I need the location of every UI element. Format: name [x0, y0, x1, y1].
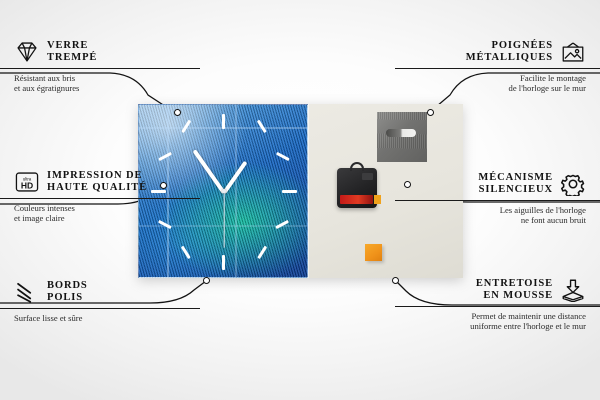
- hour-tick-2: [276, 152, 290, 161]
- divider: [395, 200, 600, 201]
- divider: [0, 68, 200, 69]
- feature-verre-trempe: VERRE TREMPÉ Résistant aux bris et aux é…: [0, 40, 210, 93]
- hour-tick-10: [158, 152, 172, 161]
- feature-header: BORDS POLIS: [0, 280, 210, 304]
- gear-icon: [560, 172, 586, 196]
- hour-tick-1: [257, 120, 267, 133]
- feature-title: BORDS POLIS: [47, 280, 88, 304]
- feature-subtitle: Couleurs intenses et image claire: [0, 203, 210, 224]
- mechanism-hanger-loop: [350, 162, 364, 171]
- picture-frame-hanger-icon: [560, 40, 586, 64]
- hour-tick-5: [257, 246, 267, 259]
- feature-title: MÉCANISME SILENCIEUX: [478, 172, 553, 196]
- marker-dot-poignees: [427, 109, 434, 116]
- feature-mecanisme-silencieux: MÉCANISME SILENCIEUX Les aiguilles de l'…: [385, 172, 600, 225]
- clock-mechanism-box: [337, 168, 377, 208]
- marker-dot-verre-trempe: [174, 109, 181, 116]
- feature-impression-haute-qualite: ultra HD IMPRESSION DE HAUTE QUALITÉ Cou…: [0, 170, 210, 223]
- infographic-stage: VERRE TREMPÉ Résistant aux bris et aux é…: [0, 0, 600, 400]
- divider: [395, 68, 600, 69]
- feature-header: MÉCANISME SILENCIEUX: [385, 172, 600, 196]
- hour-tick-11: [181, 120, 191, 133]
- hanger-slot: [386, 129, 416, 137]
- feature-subtitle: Permet de maintenir une distance uniform…: [385, 311, 600, 332]
- feature-header: VERRE TREMPÉ: [0, 40, 210, 64]
- feature-header: POIGNÉES MÉTALLIQUES: [385, 40, 600, 64]
- feature-subtitle: Facilite le montage de l'horloge sur le …: [385, 73, 600, 94]
- feature-subtitle: Résistant aux bris et aux égratignures: [0, 73, 210, 94]
- battery-positive-terminal: [374, 195, 381, 204]
- foam-spacer-pad: [365, 244, 382, 261]
- hour-hand: [222, 161, 247, 194]
- metal-hanger-plate: [377, 112, 427, 162]
- hour-tick-6: [222, 255, 225, 270]
- hour-tick-3: [282, 190, 297, 193]
- hour-tick-12: [222, 114, 225, 129]
- second-hand: [223, 193, 224, 248]
- feature-header: ultra HD IMPRESSION DE HAUTE QUALITÉ: [0, 170, 210, 194]
- diamond-icon: [14, 40, 40, 64]
- ultra-hd-large-label: HD: [21, 181, 33, 191]
- feature-title: ENTRETOISE EN MOUSSE: [476, 278, 553, 302]
- feature-title: VERRE TREMPÉ: [47, 40, 97, 64]
- hour-tick-7: [181, 246, 191, 259]
- ultra-hd-icon: ultra HD: [14, 170, 40, 194]
- mechanism-dial: [362, 173, 373, 180]
- divider: [0, 198, 200, 199]
- feature-title: IMPRESSION DE HAUTE QUALITÉ: [47, 170, 147, 194]
- foam-spacer-arrow-icon: [560, 278, 586, 302]
- hour-tick-4: [275, 220, 289, 229]
- feature-subtitle: Les aiguilles de l'horloge ne font aucun…: [385, 205, 600, 226]
- battery: [340, 195, 373, 204]
- feature-subtitle: Surface lisse et sûre: [0, 313, 210, 323]
- feature-poignees-metalliques: POIGNÉES MÉTALLIQUES Facilite le montage…: [385, 40, 600, 93]
- clock-pivot: [222, 189, 226, 193]
- feature-header: ENTRETOISE EN MOUSSE: [385, 278, 600, 302]
- feature-title: POIGNÉES MÉTALLIQUES: [466, 40, 553, 64]
- divider: [395, 306, 600, 307]
- divider: [0, 308, 200, 309]
- polished-edges-icon: [14, 280, 40, 304]
- feature-entretoise-en-mousse: ENTRETOISE EN MOUSSE Permet de maintenir…: [385, 278, 600, 331]
- feature-bords-polis: BORDS POLIS Surface lisse et sûre: [0, 280, 210, 323]
